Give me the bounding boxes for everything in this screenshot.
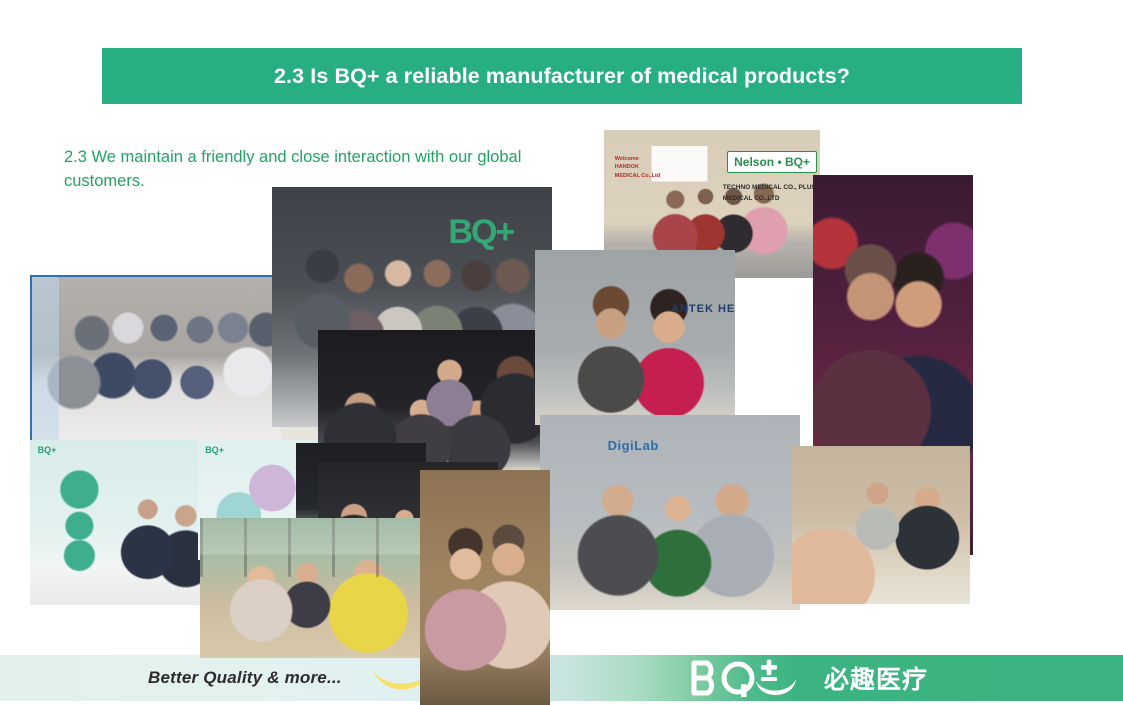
photo-caption-antek: ANTEK HEALTH GROUP — [671, 303, 735, 315]
photo-corridor-pair — [420, 470, 550, 705]
photo-restaurant-family — [200, 518, 455, 658]
title-banner: 2.3 Is BQ+ a reliable manufacturer of me… — [102, 48, 1022, 104]
photo-office-desk-selfie — [792, 446, 970, 604]
photo-caption-digilab: DigiLab — [608, 438, 659, 453]
photo-caption-expo: BQ+ — [205, 445, 224, 455]
photo-caption-bq-wall: BQ+ — [448, 213, 513, 252]
brand-chinese-name: 必趣医疗 — [824, 660, 928, 696]
photo-collage: BQ+ Welcome HANDOK MEDICAL Co.,Ltd Nelso… — [0, 110, 1123, 660]
photo-digilab-office: DigiLab — [540, 415, 800, 610]
footer-tagline: Better Quality & more... — [148, 668, 342, 688]
footer-bar: Better Quality & more... 必趣医疗 — [0, 655, 1123, 701]
photo-caption-booth: BQ+ — [38, 445, 57, 455]
bq-plus-logo-icon — [690, 659, 814, 697]
photo-tradeshow-booth-teal: BQ+ — [30, 440, 220, 605]
photo-antek-health-group: ANTEK HEALTH GROUP — [535, 250, 735, 425]
page-title: 2.3 Is BQ+ a reliable manufacturer of me… — [274, 64, 850, 89]
brand-logo: 必趣医疗 — [690, 659, 928, 697]
